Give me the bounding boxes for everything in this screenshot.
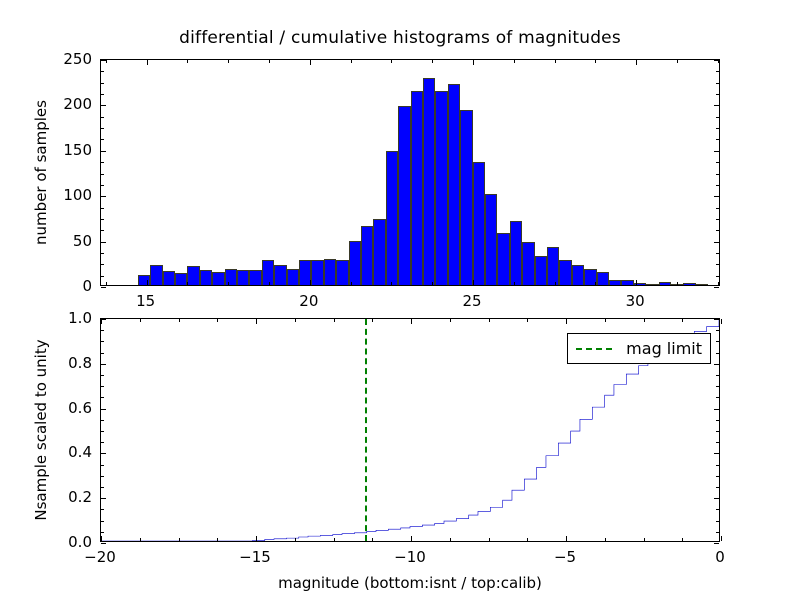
- x-minor-tick: [372, 538, 373, 541]
- histogram-bar: [262, 260, 274, 285]
- y-minor-tick: [101, 162, 104, 163]
- y-minor-tick: [716, 476, 719, 477]
- y-major-tick: [101, 364, 106, 365]
- y-minor-tick: [101, 442, 104, 443]
- matplotlib-figure: differential / cumulative histograms of …: [0, 0, 800, 600]
- y-minor-tick: [101, 397, 104, 398]
- x-major-tick: [147, 280, 148, 285]
- y-minor-tick: [101, 341, 104, 342]
- x-major-tick: [147, 60, 148, 65]
- x-tick-label: −15: [239, 548, 271, 566]
- histogram-bar: [349, 241, 361, 285]
- x-minor-tick: [334, 538, 335, 541]
- y-major-tick: [101, 287, 106, 288]
- x-minor-tick: [514, 282, 515, 285]
- cumulative-y-axis-label: Nsample scaled to unity: [32, 318, 50, 542]
- x-minor-tick: [140, 319, 141, 322]
- y-major-tick: [714, 242, 719, 243]
- legend: mag limit: [567, 333, 711, 364]
- x-minor-tick: [450, 538, 451, 541]
- histogram-bar: [683, 283, 695, 285]
- histogram-bar: [225, 269, 237, 285]
- y-minor-tick: [716, 71, 719, 72]
- x-minor-tick: [295, 538, 296, 541]
- y-major-tick: [101, 453, 106, 454]
- y-minor-tick: [716, 162, 719, 163]
- y-major-tick: [714, 151, 719, 152]
- y-minor-tick: [101, 330, 104, 331]
- y-minor-tick: [101, 139, 104, 140]
- x-major-tick: [256, 319, 257, 324]
- y-minor-tick: [716, 208, 719, 209]
- x-minor-tick: [682, 538, 683, 541]
- histogram-bar: [522, 242, 534, 285]
- y-minor-tick: [716, 253, 719, 254]
- y-minor-tick: [101, 465, 104, 466]
- x-major-tick: [566, 319, 567, 324]
- y-minor-tick: [101, 174, 104, 175]
- y-minor-tick: [101, 509, 104, 510]
- histogram-bar: [274, 265, 286, 285]
- y-minor-tick: [716, 174, 719, 175]
- x-minor-tick: [514, 60, 515, 63]
- x-major-tick: [101, 536, 102, 541]
- x-minor-tick: [677, 282, 678, 285]
- y-major-tick: [714, 60, 719, 61]
- y-minor-tick: [716, 521, 719, 522]
- histogram-bar: [473, 162, 485, 285]
- histogram-bar: [287, 269, 299, 285]
- y-minor-tick: [716, 117, 719, 118]
- y-major-tick: [101, 543, 106, 544]
- y-minor-tick: [101, 264, 104, 265]
- y-major-tick: [714, 105, 719, 106]
- y-minor-tick: [716, 431, 719, 432]
- histogram-bar: [150, 265, 162, 285]
- x-minor-tick: [644, 538, 645, 541]
- histogram-bar: [448, 84, 460, 285]
- x-minor-tick: [555, 282, 556, 285]
- x-major-tick: [721, 536, 722, 541]
- x-minor-tick: [187, 60, 188, 63]
- y-major-tick: [101, 319, 106, 320]
- histogram-bar: [411, 91, 423, 285]
- differential-plot-area: [101, 60, 719, 285]
- histogram-bar: [497, 233, 509, 285]
- y-minor-tick: [716, 83, 719, 84]
- x-major-tick: [473, 60, 474, 65]
- mag-limit-vline: [365, 319, 367, 541]
- histogram-bar: [138, 275, 150, 285]
- y-major-tick: [714, 498, 719, 499]
- histogram-bar: [547, 247, 559, 285]
- x-tick-label: −10: [394, 548, 426, 566]
- x-tick-label: −5: [554, 548, 576, 566]
- y-minor-tick: [101, 521, 104, 522]
- y-minor-tick: [716, 420, 719, 421]
- y-major-tick: [714, 453, 719, 454]
- y-minor-tick: [101, 128, 104, 129]
- histogram-bar: [485, 194, 497, 285]
- histogram-bar: [324, 259, 336, 285]
- x-minor-tick: [489, 538, 490, 541]
- histogram-bar: [386, 151, 398, 285]
- cumulative-x-axis-label: magnitude (bottom:isnt / top:calib): [278, 574, 542, 592]
- y-minor-tick: [101, 185, 104, 186]
- y-minor-tick: [716, 330, 719, 331]
- x-minor-tick: [217, 319, 218, 322]
- y-minor-tick: [716, 353, 719, 354]
- y-minor-tick: [101, 375, 104, 376]
- histogram-bar: [510, 221, 522, 285]
- histogram-bar: [175, 273, 187, 285]
- cumulative-axes: mag limit: [100, 318, 720, 542]
- y-minor-tick: [716, 532, 719, 533]
- x-minor-tick: [179, 538, 180, 541]
- histogram-bar: [311, 260, 323, 285]
- histogram-bar: [597, 272, 609, 285]
- y-minor-tick: [716, 139, 719, 140]
- y-minor-tick: [716, 219, 719, 220]
- y-minor-tick: [101, 253, 104, 254]
- histogram-bar: [373, 219, 385, 285]
- y-minor-tick: [716, 375, 719, 376]
- mag-limit-dash-icon: [576, 348, 612, 350]
- y-minor-tick: [716, 264, 719, 265]
- x-minor-tick: [351, 60, 352, 63]
- y-minor-tick: [716, 185, 719, 186]
- x-tick-label: 20: [299, 292, 318, 310]
- histogram-bar: [535, 256, 547, 285]
- x-tick-label: 0: [715, 548, 725, 566]
- x-major-tick: [411, 536, 412, 541]
- page-title: differential / cumulative histograms of …: [0, 28, 800, 48]
- y-minor-tick: [716, 230, 719, 231]
- histogram-bar: [572, 265, 584, 285]
- x-minor-tick: [391, 282, 392, 285]
- y-minor-tick: [101, 208, 104, 209]
- histogram-bar: [361, 226, 373, 285]
- histogram-bar: [646, 284, 658, 285]
- y-major-tick: [101, 60, 106, 61]
- y-minor-tick: [101, 353, 104, 354]
- x-minor-tick: [106, 282, 107, 285]
- histogram-bar: [621, 280, 633, 285]
- y-minor-tick: [716, 442, 719, 443]
- x-minor-tick: [605, 538, 606, 541]
- x-major-tick: [636, 60, 637, 65]
- x-minor-tick: [228, 60, 229, 63]
- y-major-tick: [714, 196, 719, 197]
- x-minor-tick: [228, 282, 229, 285]
- histogram-bar: [336, 260, 348, 285]
- x-minor-tick: [605, 319, 606, 322]
- x-minor-tick: [140, 538, 141, 541]
- x-minor-tick: [391, 60, 392, 63]
- y-minor-tick: [101, 83, 104, 84]
- histogram-bar: [659, 282, 671, 285]
- x-tick-label: 25: [462, 292, 481, 310]
- y-major-tick: [101, 498, 106, 499]
- legend-entry-label: mag limit: [626, 339, 702, 358]
- x-minor-tick: [295, 319, 296, 322]
- y-minor-tick: [716, 386, 719, 387]
- y-minor-tick: [716, 465, 719, 466]
- histogram-bar: [200, 270, 212, 285]
- differential-histogram-axes: [100, 59, 720, 286]
- x-minor-tick: [432, 282, 433, 285]
- x-minor-tick: [269, 60, 270, 63]
- y-minor-tick: [101, 276, 104, 277]
- y-minor-tick: [101, 230, 104, 231]
- y-minor-tick: [101, 487, 104, 488]
- y-minor-tick: [101, 117, 104, 118]
- x-minor-tick: [106, 60, 107, 63]
- histogram-bar: [187, 266, 199, 285]
- histogram-bar: [423, 78, 435, 285]
- x-minor-tick: [527, 538, 528, 541]
- y-minor-tick: [716, 94, 719, 95]
- y-major-tick: [101, 105, 106, 106]
- x-minor-tick: [527, 319, 528, 322]
- y-major-tick: [101, 242, 106, 243]
- histogram-bar: [249, 270, 261, 285]
- x-minor-tick: [351, 282, 352, 285]
- histogram-bar: [163, 271, 175, 285]
- x-minor-tick: [489, 319, 490, 322]
- y-minor-tick: [716, 341, 719, 342]
- x-major-tick: [636, 280, 637, 285]
- y-minor-tick: [716, 276, 719, 277]
- y-minor-tick: [101, 420, 104, 421]
- y-major-tick: [714, 287, 719, 288]
- x-minor-tick: [595, 60, 596, 63]
- y-minor-tick: [101, 532, 104, 533]
- y-major-tick: [101, 409, 106, 410]
- x-tick-label: 15: [136, 292, 155, 310]
- differential-y-axis-label: number of samples: [32, 59, 50, 286]
- x-minor-tick: [372, 319, 373, 322]
- y-minor-tick: [101, 94, 104, 95]
- x-minor-tick: [187, 282, 188, 285]
- x-minor-tick: [595, 282, 596, 285]
- y-major-tick: [714, 543, 719, 544]
- histogram-bar: [398, 106, 410, 285]
- y-minor-tick: [101, 71, 104, 72]
- histogram-bar: [460, 110, 472, 285]
- y-major-tick: [714, 409, 719, 410]
- x-minor-tick: [718, 282, 719, 285]
- x-major-tick: [310, 280, 311, 285]
- x-minor-tick: [682, 319, 683, 322]
- histogram-bar: [237, 270, 249, 285]
- x-minor-tick: [555, 60, 556, 63]
- histogram-bar: [559, 260, 571, 285]
- histogram-bar: [435, 91, 447, 285]
- x-minor-tick: [179, 319, 180, 322]
- x-minor-tick: [269, 282, 270, 285]
- histogram-bar: [696, 284, 708, 285]
- x-minor-tick: [334, 319, 335, 322]
- x-minor-tick: [217, 538, 218, 541]
- y-major-tick: [714, 364, 719, 365]
- histogram-bar: [212, 272, 224, 285]
- y-minor-tick: [716, 487, 719, 488]
- x-minor-tick: [450, 319, 451, 322]
- y-minor-tick: [101, 219, 104, 220]
- x-major-tick: [310, 60, 311, 65]
- x-major-tick: [256, 536, 257, 541]
- x-tick-label: 30: [626, 292, 645, 310]
- y-minor-tick: [101, 476, 104, 477]
- y-minor-tick: [716, 128, 719, 129]
- y-minor-tick: [101, 386, 104, 387]
- y-minor-tick: [716, 397, 719, 398]
- x-minor-tick: [677, 60, 678, 63]
- histogram-bar: [609, 280, 621, 285]
- y-minor-tick: [716, 509, 719, 510]
- y-major-tick: [101, 151, 106, 152]
- y-major-tick: [714, 319, 719, 320]
- x-minor-tick: [432, 60, 433, 63]
- x-major-tick: [473, 280, 474, 285]
- y-major-tick: [101, 196, 106, 197]
- x-major-tick: [721, 319, 722, 324]
- y-minor-tick: [101, 431, 104, 432]
- x-minor-tick: [644, 319, 645, 322]
- x-major-tick: [566, 536, 567, 541]
- x-major-tick: [411, 319, 412, 324]
